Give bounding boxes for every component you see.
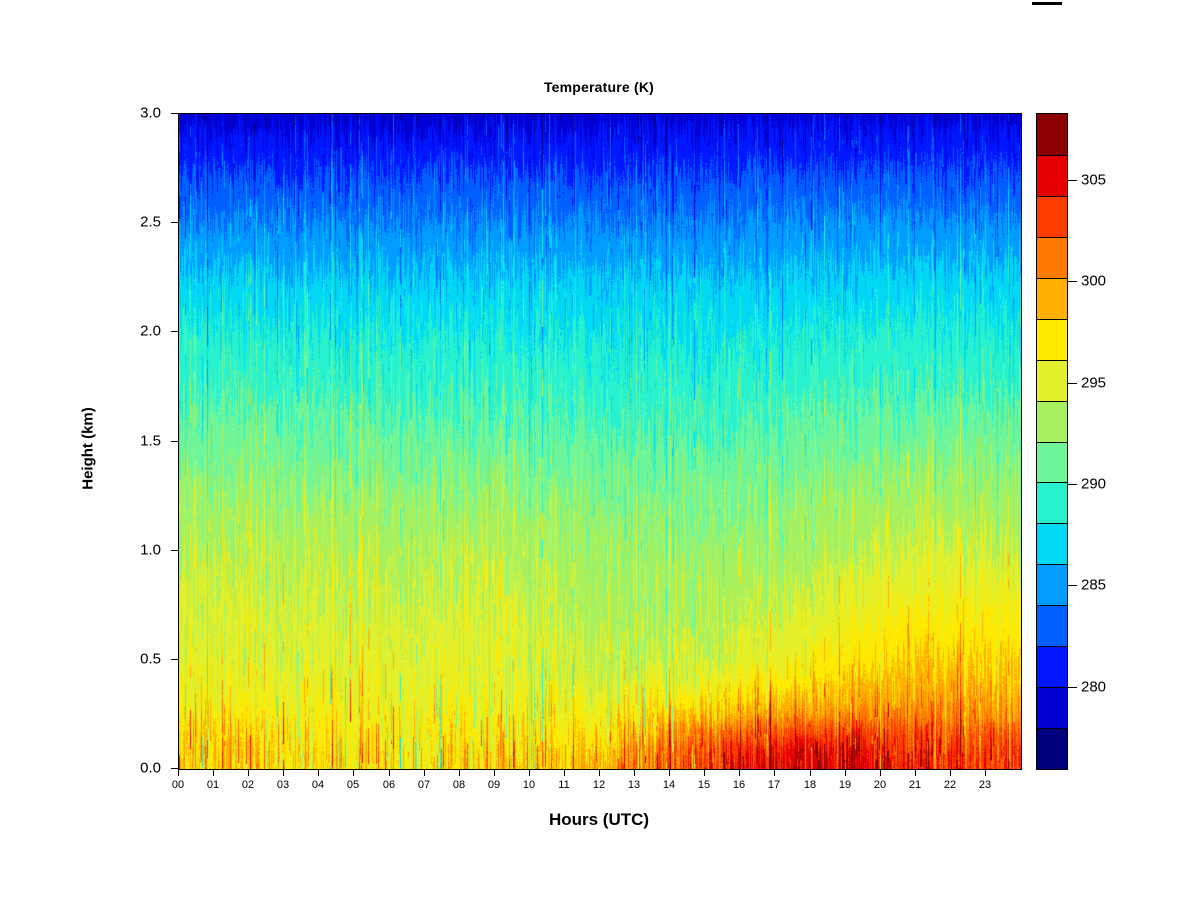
x-axis-tick	[178, 769, 179, 776]
x-axis-tick-label: 07	[404, 779, 444, 791]
x-axis-tick	[494, 769, 495, 776]
x-axis-tick-label: 17	[754, 779, 794, 791]
x-axis-tick	[564, 769, 565, 776]
x-axis-tick-label: 13	[614, 779, 654, 791]
y-axis-tick-label: 0.0	[101, 760, 161, 777]
y-axis-tick	[171, 222, 178, 223]
x-axis-tick-label: 02	[228, 779, 268, 791]
y-axis-tick-label: 2.0	[101, 323, 161, 340]
colorbar-tick	[1068, 484, 1077, 485]
x-axis-tick-label: 19	[825, 779, 865, 791]
x-axis-tick-label: 09	[474, 779, 514, 791]
x-axis-tick-label: 18	[790, 779, 830, 791]
y-axis-tick-label: 2.5	[101, 214, 161, 231]
x-axis-tick	[424, 769, 425, 776]
x-axis-tick-label: 20	[860, 779, 900, 791]
colorbar-tick-label: 295	[1081, 375, 1133, 392]
y-axis-title: Height (km)	[80, 349, 97, 549]
colorbar-tick-label: 285	[1081, 577, 1133, 594]
colorbar-band	[1037, 523, 1067, 564]
x-axis-tick	[774, 769, 775, 776]
temperature-colorbar	[1036, 113, 1068, 770]
heatmap-plot-area	[178, 113, 1022, 770]
x-axis-tick	[810, 769, 811, 776]
colorbar-tick	[1068, 281, 1077, 282]
y-axis-tick	[171, 441, 178, 442]
y-axis-tick-label: 1.0	[101, 542, 161, 559]
colorbar-band	[1037, 442, 1067, 483]
x-axis-tick	[389, 769, 390, 776]
colorbar-band	[1037, 646, 1067, 687]
x-axis-tick	[634, 769, 635, 776]
x-axis-tick-label: 04	[298, 779, 338, 791]
x-axis-tick-label: 22	[930, 779, 970, 791]
colorbar-band	[1037, 687, 1067, 728]
x-axis-tick-label: 21	[895, 779, 935, 791]
colorbar-band	[1037, 482, 1067, 523]
y-axis-tick-label: 3.0	[101, 105, 161, 122]
colorbar-tick-label: 290	[1081, 476, 1133, 493]
x-axis-tick	[985, 769, 986, 776]
x-axis-tick	[739, 769, 740, 776]
x-axis-tick	[950, 769, 951, 776]
x-axis-tick-label: 10	[509, 779, 549, 791]
colorbar-band	[1037, 564, 1067, 605]
y-axis-tick	[171, 659, 178, 660]
y-axis-tick	[171, 768, 178, 769]
colorbar-tick	[1068, 383, 1077, 384]
colorbar-tick-label: 300	[1081, 273, 1133, 290]
x-axis-tick	[669, 769, 670, 776]
x-axis-tick-label: 06	[369, 779, 409, 791]
render-artifact-line	[1032, 2, 1062, 5]
colorbar-tick	[1068, 687, 1077, 688]
x-axis-tick-label: 05	[333, 779, 373, 791]
x-axis-tick	[915, 769, 916, 776]
colorbar-tick-label: 305	[1081, 172, 1133, 189]
y-axis-tick-label: 0.5	[101, 651, 161, 668]
x-axis-tick	[213, 769, 214, 776]
colorbar-band	[1037, 114, 1067, 155]
x-axis-tick-label: 12	[579, 779, 619, 791]
x-axis-tick-label: 23	[965, 779, 1005, 791]
colorbar-band	[1037, 319, 1067, 360]
x-axis-tick-label: 01	[193, 779, 233, 791]
x-axis-tick	[459, 769, 460, 776]
colorbar-band	[1037, 401, 1067, 442]
x-axis-tick-label: 03	[263, 779, 303, 791]
x-axis-tick-label: 00	[158, 779, 198, 791]
x-axis-tick-label: 14	[649, 779, 689, 791]
colorbar-band	[1037, 728, 1067, 769]
x-axis-title: Hours (UTC)	[178, 810, 1020, 830]
colorbar-band	[1037, 196, 1067, 237]
x-axis-tick	[845, 769, 846, 776]
y-axis-tick	[171, 113, 178, 114]
x-axis-tick-label: 15	[684, 779, 724, 791]
x-axis-tick	[353, 769, 354, 776]
colorbar-band	[1037, 278, 1067, 319]
x-axis-tick	[599, 769, 600, 776]
x-axis-tick-label: 08	[439, 779, 479, 791]
colorbar-band	[1037, 237, 1067, 278]
page-title: Temperature (K)	[178, 79, 1020, 95]
temperature-time-height-figure: Temperature (K) 0.00.51.01.52.02.53.0 00…	[0, 0, 1200, 900]
colorbar-band	[1037, 360, 1067, 401]
x-axis-tick	[880, 769, 881, 776]
x-axis-tick	[248, 769, 249, 776]
x-axis-tick	[318, 769, 319, 776]
temperature-field-canvas	[179, 114, 1021, 769]
x-axis-tick	[704, 769, 705, 776]
colorbar-band	[1037, 605, 1067, 646]
colorbar-tick	[1068, 585, 1077, 586]
x-axis-tick	[529, 769, 530, 776]
colorbar-tick	[1068, 180, 1077, 181]
y-axis-tick-label: 1.5	[101, 433, 161, 450]
x-axis-tick-label: 11	[544, 779, 584, 791]
colorbar-band	[1037, 155, 1067, 196]
y-axis-tick	[171, 331, 178, 332]
x-axis-tick	[283, 769, 284, 776]
y-axis-tick	[171, 550, 178, 551]
colorbar-tick-label: 280	[1081, 679, 1133, 696]
x-axis-tick-label: 16	[719, 779, 759, 791]
